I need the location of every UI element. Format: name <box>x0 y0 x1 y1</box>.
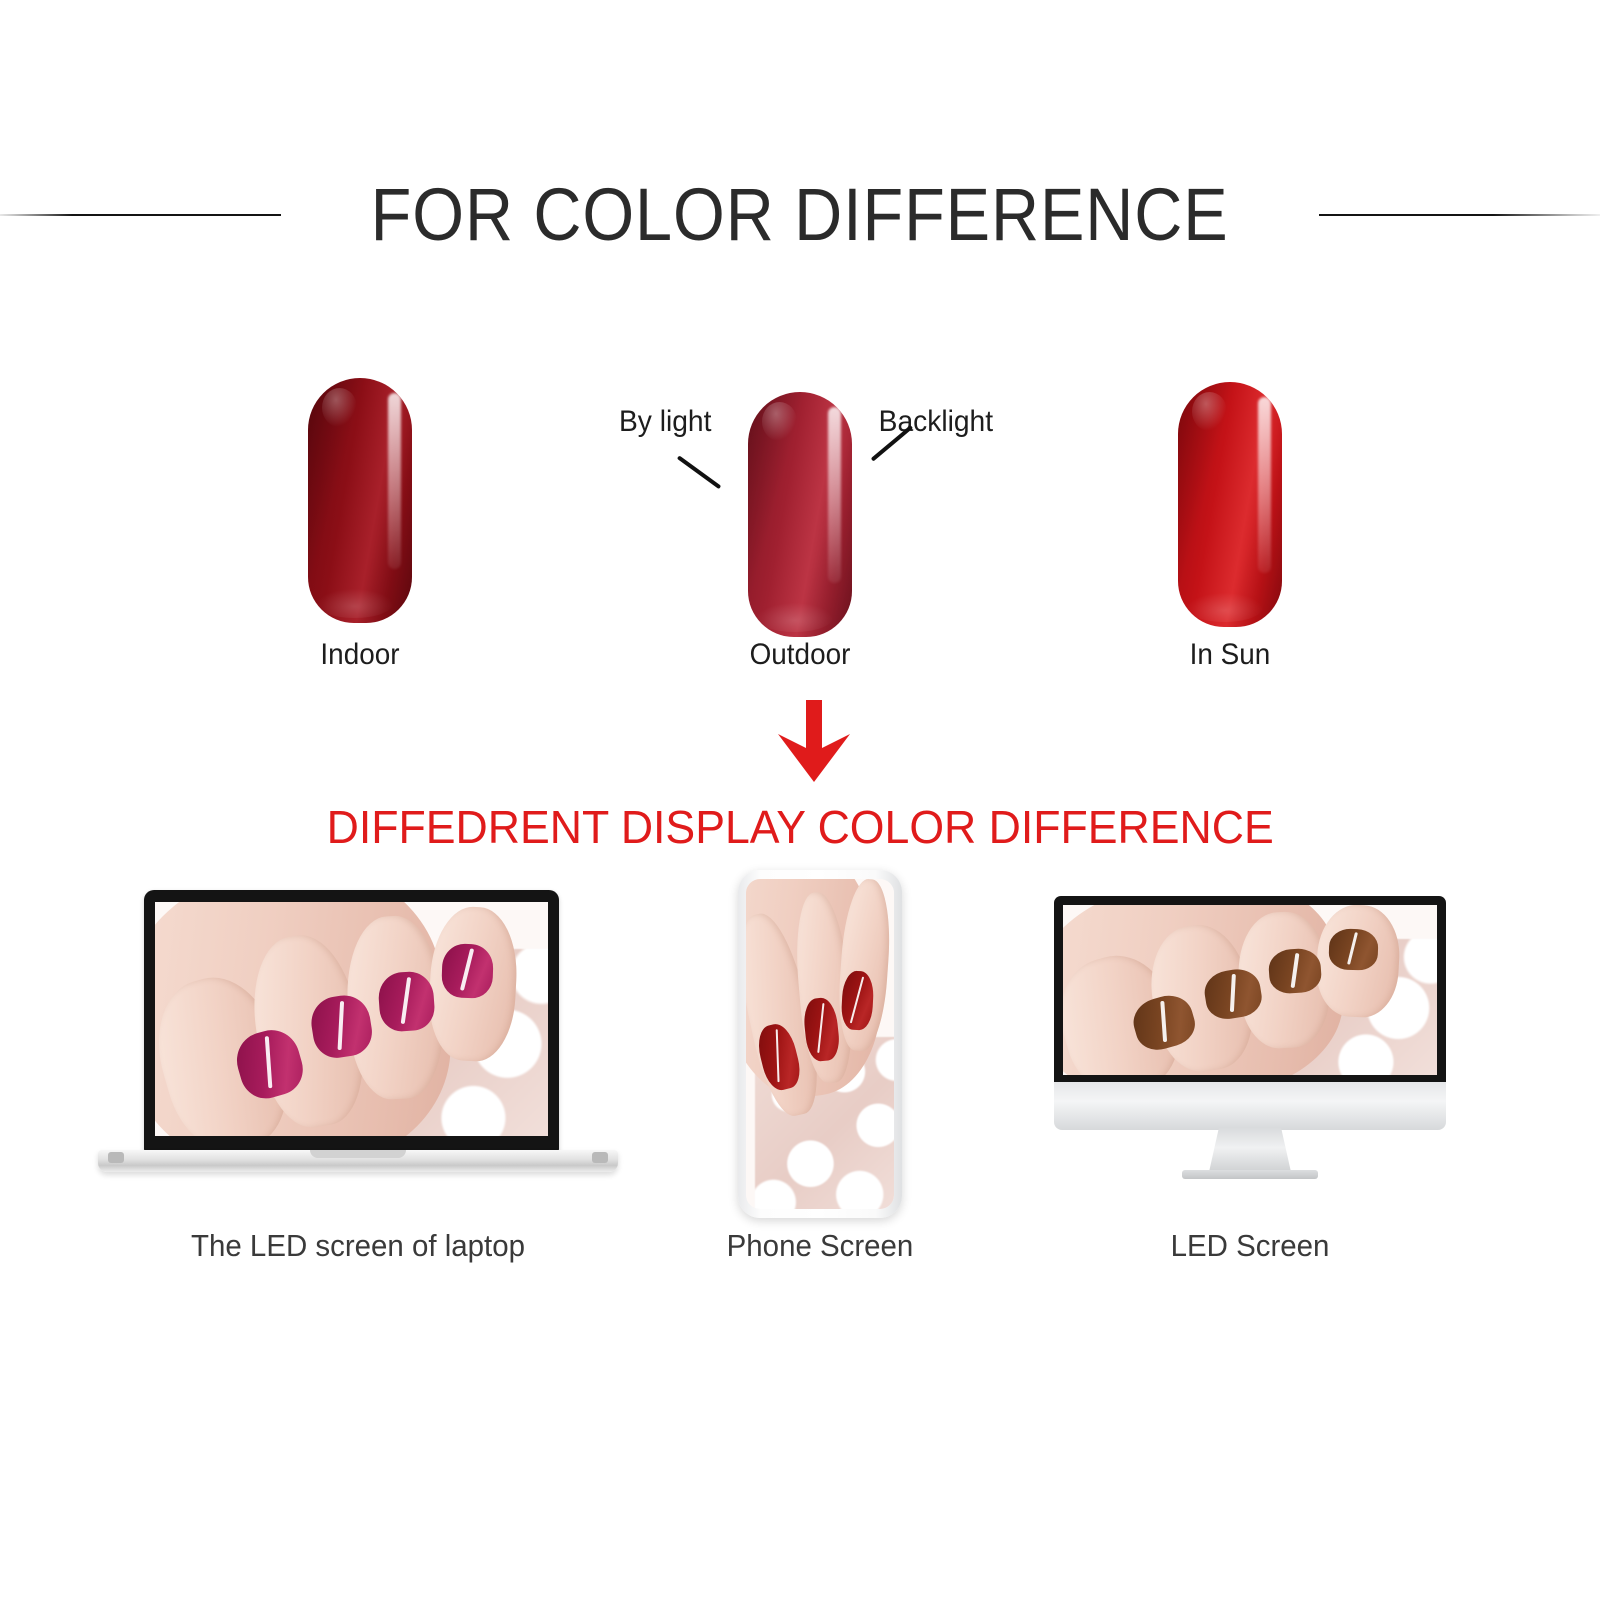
callout-by-light: By light <box>619 405 711 439</box>
swatch-label-indoor: Indoor <box>230 638 490 672</box>
page-title: FOR COLOR DIFFERENCE <box>371 175 1229 255</box>
divider-line-left-icon <box>0 214 281 216</box>
swatch-bottom-glow <box>316 589 393 618</box>
nail-photo-monitor <box>1063 905 1437 1075</box>
down-arrow-icon <box>764 700 864 782</box>
phone-screen <box>746 879 894 1209</box>
laptop-foot-left <box>108 1152 124 1163</box>
swatch-label-outdoor: Outdoor <box>670 638 930 672</box>
phone-body <box>738 870 902 1218</box>
monitor-device <box>1054 896 1446 1196</box>
swatch-bottom-glow <box>1186 593 1263 622</box>
phone-device <box>738 870 902 1218</box>
page-header: FOR COLOR DIFFERENCE <box>0 165 1600 265</box>
device-comparison-section: The LED screen of laptop <box>0 870 1600 1300</box>
swatch-highlight-top <box>1192 392 1227 431</box>
nail-swatch-section: Indoor Outdoor By light Backlight In Sun <box>0 370 1600 670</box>
painted-nail <box>441 943 494 999</box>
device-label-phone: Phone Screen <box>678 1228 963 1264</box>
laptop-foot-right <box>592 1152 608 1163</box>
color-difference-headline: DIFFEDRENT DISPLAY COLOR DIFFERENCE <box>0 800 1600 854</box>
laptop-device <box>98 890 618 1200</box>
device-label-laptop: The LED screen of laptop <box>121 1228 596 1264</box>
swatch-highlight-top <box>322 388 357 427</box>
monitor-chin <box>1054 1082 1446 1130</box>
laptop-lid <box>144 890 559 1152</box>
swatch-gloss-streak <box>1258 397 1271 573</box>
monitor-stand-neck <box>1209 1128 1291 1172</box>
nail-photo-phone <box>746 879 894 1209</box>
painted-nail <box>377 970 436 1032</box>
device-label-monitor: LED Screen <box>1070 1228 1431 1264</box>
swatch-bottom-glow <box>756 603 833 632</box>
swatch-highlight-top <box>762 402 797 441</box>
laptop-screen <box>155 902 548 1136</box>
callout-backlight: Backlight <box>879 405 993 439</box>
nail-swatch-in-sun <box>1178 382 1282 627</box>
swatch-gloss-streak <box>828 407 841 583</box>
nail-photo-laptop <box>155 902 548 1136</box>
monitor-stand-foot <box>1182 1170 1318 1179</box>
monitor-screen <box>1063 905 1437 1075</box>
painted-nail <box>1328 928 1378 970</box>
nail-swatch-indoor <box>308 378 412 623</box>
laptop-notch <box>310 1150 406 1158</box>
color-difference-headline-text: DIFFEDRENT DISPLAY COLOR DIFFERENCE <box>326 800 1273 854</box>
nail-swatch-outdoor <box>748 392 852 637</box>
swatch-label-in-sun: In Sun <box>1100 638 1360 672</box>
monitor-bezel <box>1054 896 1446 1084</box>
callout-leader-by-light-icon <box>677 455 721 489</box>
poster-canvas: FOR COLOR DIFFERENCE Indoor Outdoor By l… <box>0 0 1600 1600</box>
swatch-gloss-streak <box>388 393 401 569</box>
painted-nail <box>1267 947 1322 995</box>
divider-line-right-icon <box>1319 214 1600 216</box>
